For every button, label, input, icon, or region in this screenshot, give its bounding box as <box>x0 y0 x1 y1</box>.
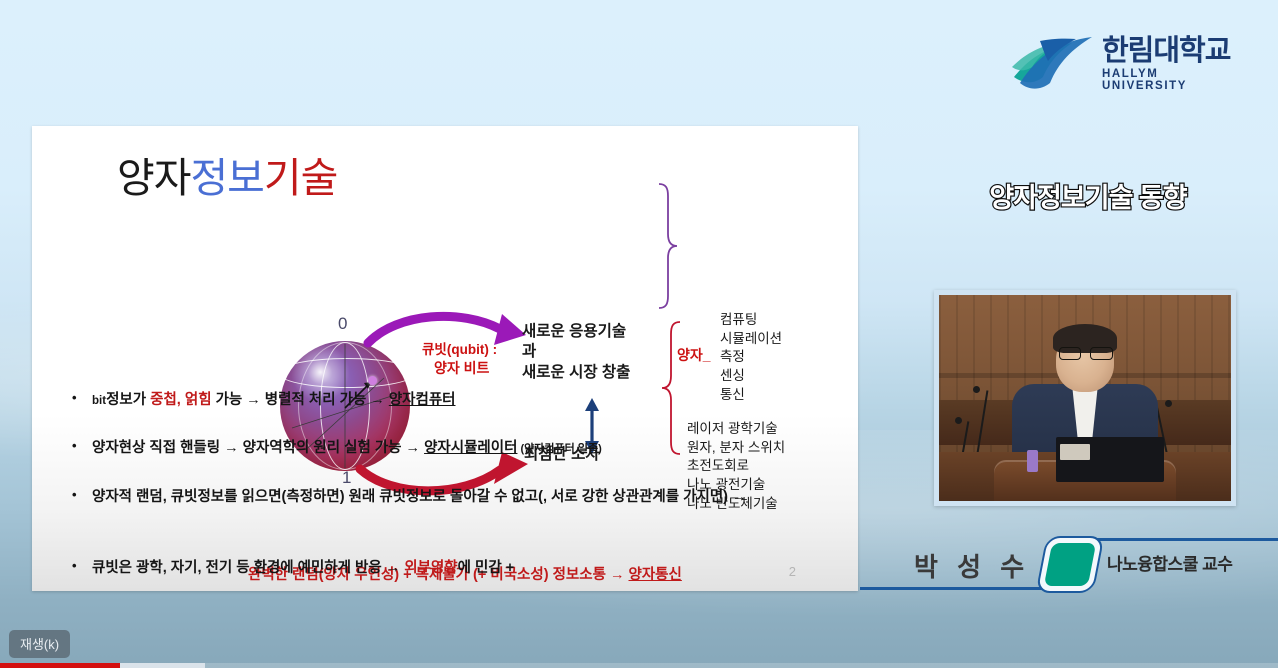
bullet-4: 큐빗은 광학, 자기, 전기 등 환경에 예민하게 반응 → 외부영향에 민감 … <box>50 558 850 579</box>
university-logo: 한림대학교 HALLYM UNIVERSITY <box>1010 25 1235 103</box>
microphone-head-icon <box>973 386 980 393</box>
bullet-2-seg-2: 양자시뮬레이터 <box>424 440 517 456</box>
video-progress-bar[interactable] <box>0 663 1278 668</box>
laptop <box>1056 437 1164 482</box>
lecture-video[interactable] <box>934 290 1236 506</box>
wave-mark-icon <box>1010 33 1096 95</box>
microphone-head-icon <box>955 417 962 424</box>
slide-bullet-list: bit정보가 중첩, 얽힘 가능 → 병렬적 처리 가능 → 양자컴퓨터 양자현… <box>50 390 850 474</box>
speaker-name: 박 성 수 <box>914 547 1030 584</box>
bullet-1-seg-1: bit <box>92 395 106 407</box>
bullet-1-seg-5: 양자컴퓨터 <box>389 392 456 408</box>
bullet-1-seg-2: 정보가 <box>106 392 150 408</box>
logo-korean-name: 한림대학교 <box>1102 36 1230 66</box>
banner-line-bottom <box>860 587 1060 590</box>
diagram-application-text: 새로운 응용기술 과 새로운 시장 창출 <box>522 322 630 383</box>
list-item: 센싱 <box>720 368 745 383</box>
diagram-quantum-label: 양자_ <box>677 345 711 365</box>
logo-english-name: HALLYM UNIVERSITY <box>1102 68 1235 92</box>
speaker-role: 나노융합스쿨 교수 <box>1107 550 1232 575</box>
list-item: 측정 <box>720 349 745 364</box>
bullet-3: 양자적 랜덤, 큐빗정보를 읽으면(측정하면) 원래 큐빗정보로 돌아갈 수 없… <box>50 487 850 508</box>
glasses-icon <box>1059 347 1113 360</box>
laptop-label <box>1060 444 1090 459</box>
bullet-2: 양자현상 직접 핸들링 → 양자역학의 원리 실험 가능 → 양자시뮬레이터 (… <box>50 438 850 459</box>
diagram-app-line2: 과 <box>522 343 536 360</box>
bullet-4-seg-2: 외부영향 <box>404 560 457 576</box>
list-item: 시뮬레이션 <box>720 331 782 346</box>
bullet-3-seg-1: 양자적 랜덤, 큐빗정보를 읽으면(측정하면) 원래 큐빗정보로 돌아갈 수 없… <box>92 489 747 505</box>
water-bottle <box>1027 450 1039 473</box>
nano-school-parallelogram-icon <box>1041 536 1099 593</box>
bullet-1-seg-3: 중첩, 얽힘 <box>150 392 211 408</box>
slide-page-number: 2 <box>789 564 796 579</box>
bullet-2-seg-3: (양자컴퓨터 일종) <box>517 443 601 455</box>
bullet-1: bit정보가 중첩, 얽힘 가능 → 병렬적 처리 가능 → 양자컴퓨터 <box>50 390 850 411</box>
bullet-4-seg-3: 에 민감 + <box>458 560 515 576</box>
logo-inner-shape <box>1044 543 1096 586</box>
bullet-4-seg-1: 큐빗은 광학, 자기, 전기 등 환경에 예민하게 반응 → <box>92 560 404 576</box>
progress-played <box>0 663 120 668</box>
play-button-tooltip: 재생(k) <box>9 630 70 658</box>
bullet-2-seg-1: 양자현상 직접 핸들링 → 양자역학의 원리 실험 가능 → <box>92 440 424 456</box>
list-item: 컴퓨팅 <box>720 312 757 327</box>
diagram-app-line1: 새로운 응용기술 <box>522 323 626 340</box>
diagram-app-line3: 새로운 시장 창출 <box>522 364 630 381</box>
bullet-1-seg-4: 가능 → 병렬적 처리 가능 → <box>212 392 389 408</box>
session-title: 양자정보기술 동향 <box>938 176 1238 215</box>
video-content <box>939 295 1231 501</box>
speaker-name-banner: 박 성 수 나노융합스쿨 교수 <box>860 533 1278 595</box>
presentation-slide[interactable]: 양자정보기술 0 1 큐빗(qubit) : 양자 비트 <box>32 126 858 591</box>
